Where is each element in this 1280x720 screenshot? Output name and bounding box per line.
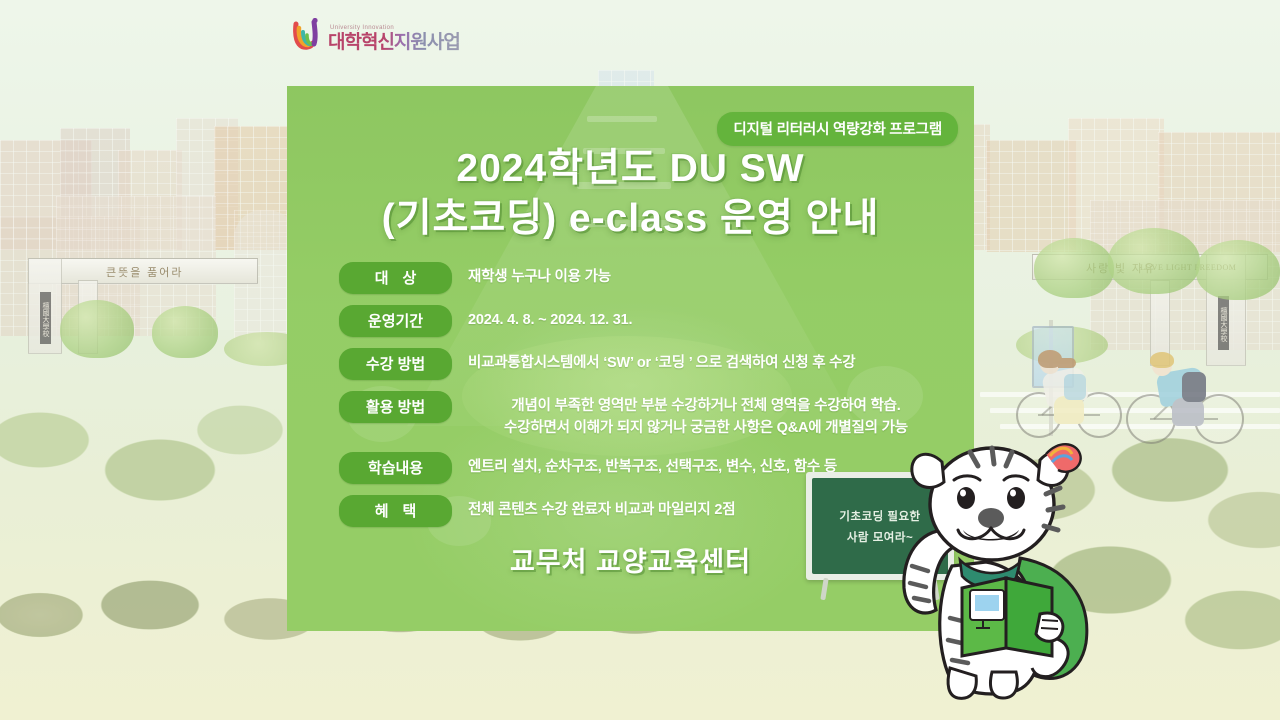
logo-symbol-icon xyxy=(293,18,323,52)
page-title: 2024학년도 DU SW (기초코딩) e-class 운영 안내 xyxy=(287,144,974,244)
rider-legs xyxy=(1172,398,1204,426)
info-value-how-to-enroll: 비교과통합시스템에서 ‘SW’ or ‘코딩 ’ 으로 검색하여 신청 후 수강 xyxy=(452,348,954,374)
gate-left-plaque: 檀國大學校 xyxy=(40,292,51,344)
cyclist-right xyxy=(1126,330,1256,454)
program-badge: 디지털 리터러시 역량강화 프로그램 xyxy=(717,112,958,146)
info-row-target: 대상 재학생 누구나 이용 가능 xyxy=(339,262,954,294)
rider-backpack xyxy=(1182,372,1206,402)
mascot-nose xyxy=(978,508,1004,528)
tree xyxy=(152,306,218,358)
mascot-eye-left xyxy=(957,487,975,509)
info-value-target: 재학생 누구나 이용 가능 xyxy=(452,262,954,288)
rider-backpack xyxy=(1064,374,1086,400)
info-label-how-to-enroll: 수강 방법 xyxy=(339,348,452,380)
mascot-eye-highlight xyxy=(960,490,966,497)
white-tiger-mascot xyxy=(900,438,1115,708)
logo-english-label: University Innovation xyxy=(330,25,460,31)
tree xyxy=(1108,228,1200,294)
info-label-how-to-use: 활용 방법 xyxy=(339,391,452,423)
info-label-period: 운영기간 xyxy=(339,305,452,337)
mascot-leg-right xyxy=(990,672,1017,698)
mascot-eye-right xyxy=(1007,487,1025,509)
title-line-2: (기초코딩) e-class 운영 안내 xyxy=(287,194,974,244)
title-line-1: 2024학년도 DU SW xyxy=(287,144,974,194)
info-label-benefit: 혜택 xyxy=(339,495,452,527)
panel-ghost-stripe xyxy=(587,116,657,122)
info-row-period: 운영기간 2024. 4. 8. ~ 2024. 12. 31. xyxy=(339,305,954,337)
monitor-screen xyxy=(975,595,999,611)
info-value-line: 수강하면서 이해가 되지 않거나 궁금한 사항은 Q&A에 개별질의 가능 xyxy=(458,417,954,439)
info-value-line: 비교과통합시스템에서 ‘SW’ or ‘코딩 ’ 으로 검색하여 신청 후 수강 xyxy=(468,352,954,374)
info-value-line: 재학생 누구나 이용 가능 xyxy=(468,266,954,288)
cyclist-left xyxy=(1014,330,1134,450)
poster-canvas: 큰뜻을 품어라 檀國大學校 사랑 빛 자유 LOVE LIGHT FREEDOM… xyxy=(0,0,1280,720)
mascot-eye-highlight xyxy=(1010,490,1016,497)
gate-left-motto: 큰뜻을 품어라 xyxy=(106,264,183,280)
info-label-curriculum: 학습내용 xyxy=(339,452,452,484)
mascot-illustration xyxy=(900,438,1115,708)
rider-ponytail xyxy=(1058,358,1076,368)
mascot-hand-right xyxy=(1036,613,1063,641)
rider-hair xyxy=(1150,352,1174,368)
tree xyxy=(1196,240,1280,300)
info-label-target: 대상 xyxy=(339,262,452,294)
logo-korean-text: 대학혁신지원사업 xyxy=(328,32,460,53)
tree xyxy=(60,300,134,358)
building xyxy=(986,140,1076,252)
info-row-how-to-enroll: 수강 방법 비교과통합시스템에서 ‘SW’ or ‘코딩 ’ 으로 검색하여 신… xyxy=(339,348,954,380)
tree xyxy=(1034,238,1114,298)
logo-korean-label: 대학혁신지원사업 xyxy=(328,33,460,52)
mascot-ear-left xyxy=(912,454,944,487)
rider-legs xyxy=(1054,396,1084,424)
info-value-how-to-use: 개념이 부족한 영역만 부분 수강하거나 전체 영역을 수강하여 학습. 수강하… xyxy=(452,391,954,439)
info-row-how-to-use: 활용 방법 개념이 부족한 영역만 부분 수강하거나 전체 영역을 수강하여 학… xyxy=(339,391,954,439)
info-value-line: 개념이 부족한 영역만 부분 수강하거나 전체 영역을 수강하여 학습. xyxy=(458,395,954,417)
info-value-line: 2024. 4. 8. ~ 2024. 12. 31. xyxy=(468,309,954,331)
info-value-period: 2024. 4. 8. ~ 2024. 12. 31. xyxy=(452,305,954,331)
university-innovation-logo: University Innovation 대학혁신지원사업 xyxy=(293,18,460,52)
